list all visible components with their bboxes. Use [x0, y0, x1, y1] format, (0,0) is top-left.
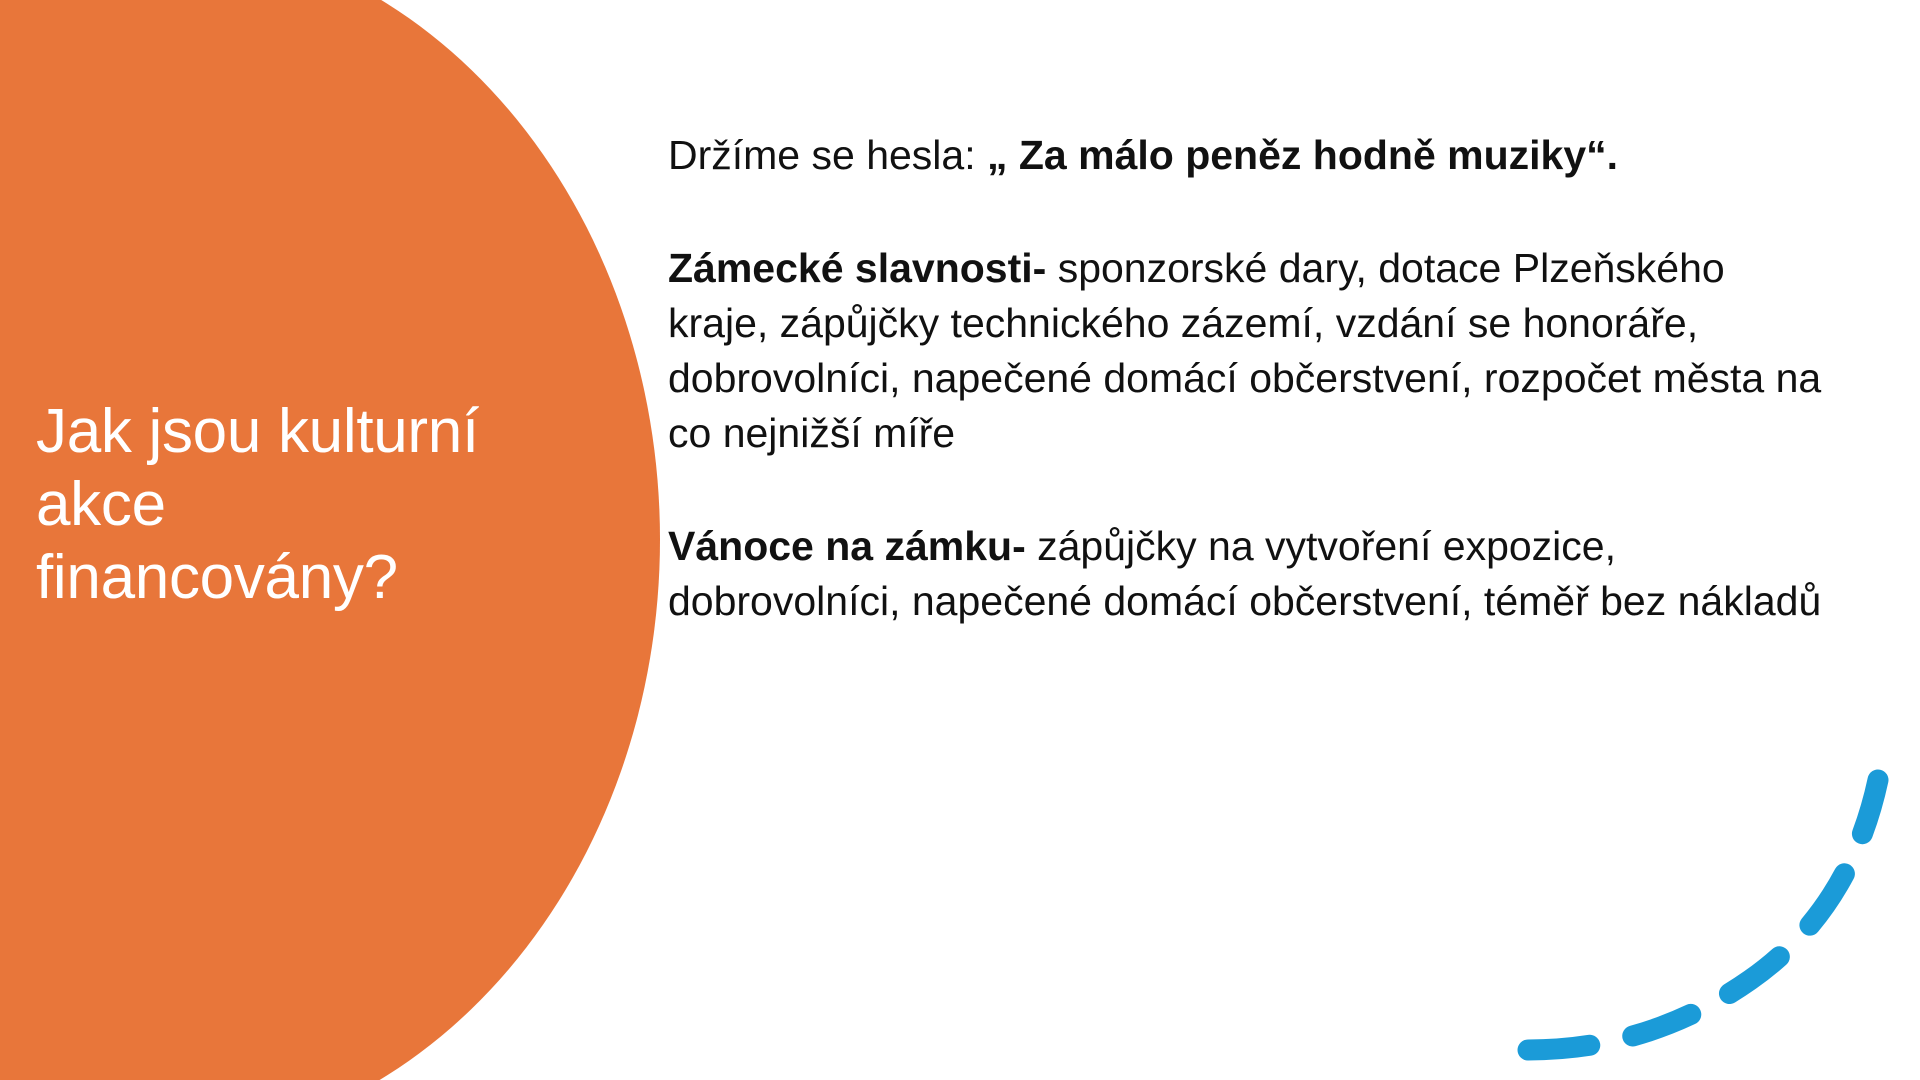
paragraph-zamecke-slavnosti-lead: Zámecké slavnosti- [668, 245, 1046, 291]
paragraph-vanoce-na-zamku-lead: Vánoce na zámku- [668, 523, 1026, 569]
paragraph-motto-intro: Držíme se hesla: [668, 132, 987, 178]
slide-canvas: Jak jsou kulturní akce financovány? Drží… [0, 0, 1920, 1080]
paragraph-motto-quote: „ Za málo peněz hodně muziky“. [987, 132, 1618, 178]
paragraph-zamecke-slavnosti: Zámecké slavnosti- sponzorské dary, dota… [668, 241, 1833, 461]
body-text-column: Držíme se hesla: „ Za málo peněz hodně m… [668, 128, 1833, 629]
paragraph-motto: Držíme se hesla: „ Za málo peněz hodně m… [668, 128, 1833, 183]
page-title: Jak jsou kulturní akce financovány? [36, 395, 616, 614]
paragraph-vanoce-na-zamku: Vánoce na zámku- zápůjčky na vytvoření e… [668, 519, 1833, 629]
blue-dashed-arc-icon [1500, 750, 1920, 1080]
